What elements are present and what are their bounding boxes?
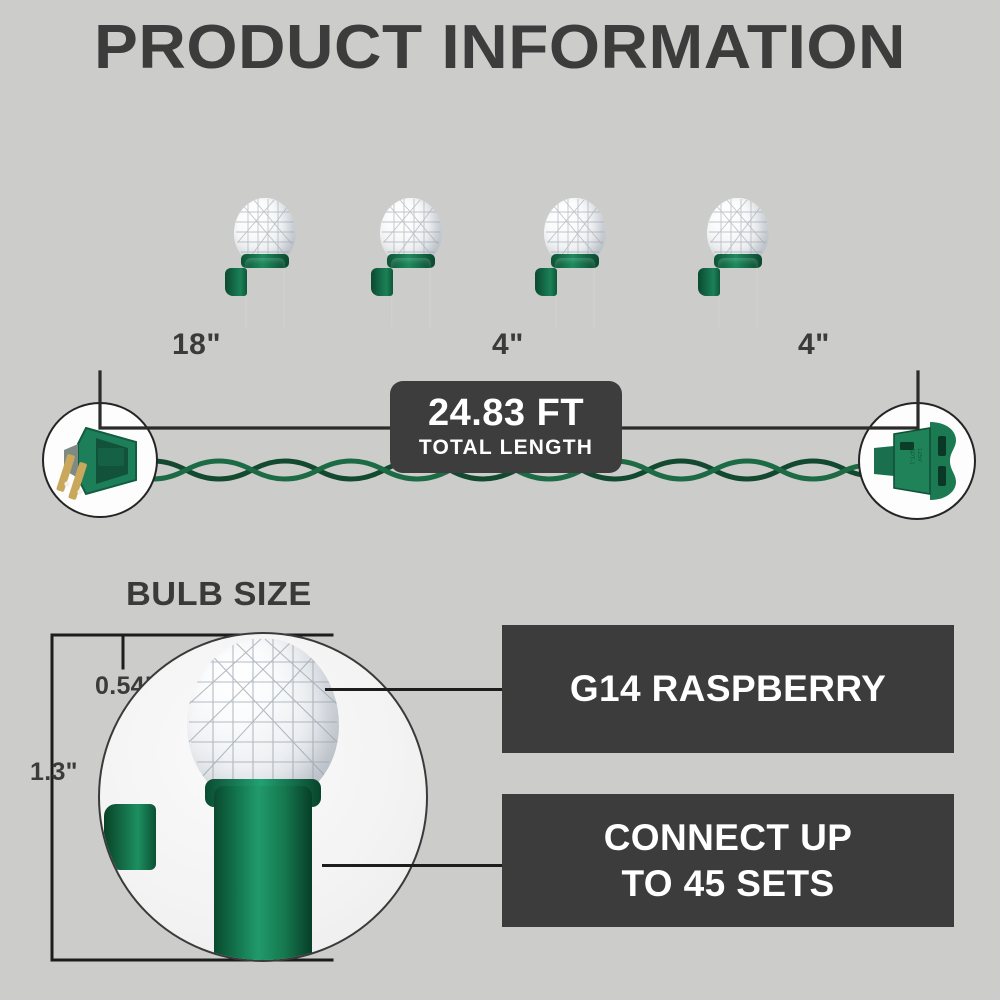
bulb-type-callout: G14 RASPBERRY — [502, 625, 954, 753]
bulb-socket-base — [555, 258, 595, 330]
connectable-sets-callout-label: CONNECT UP TO 45 SETS — [604, 815, 853, 905]
leader-line-bulb-type — [325, 688, 505, 691]
total-length-caption: TOTAL LENGTH — [419, 436, 593, 460]
connectable-sets-line-1: CONNECT UP — [604, 817, 853, 858]
female-socket-inset: 125V SPT-1 — [858, 402, 976, 520]
bulb-socket-base — [718, 258, 758, 330]
total-length-badge: 24.83 FT TOTAL LENGTH — [390, 381, 622, 473]
label-lead-wire-length: 18" — [172, 328, 221, 362]
bulb-socket-base — [391, 258, 431, 330]
bulb-socket-clip — [535, 268, 557, 296]
svg-text:SPT-1: SPT-1 — [908, 448, 914, 465]
bulb-socket-clip — [225, 268, 247, 296]
label-bulb-spacing-mid: 4" — [492, 328, 524, 362]
infographic-canvas: PRODUCT INFORMATION — [0, 0, 1000, 1000]
svg-text:125V: 125V — [916, 448, 922, 462]
bulb-socket-base-large — [214, 786, 312, 962]
page-title: PRODUCT INFORMATION — [0, 12, 1000, 83]
bulb-socket-clip — [698, 268, 720, 296]
leader-line-connect-sets — [322, 864, 505, 867]
bulb-socket-base — [245, 258, 285, 330]
bulb-socket-clip — [371, 268, 393, 296]
male-plug-inset — [42, 402, 158, 518]
label-bulb-height: 1.3" — [30, 758, 78, 787]
bulb-detail-circle — [98, 632, 428, 962]
total-length-value: 24.83 FT — [428, 394, 584, 434]
connectable-sets-callout: CONNECT UP TO 45 SETS — [502, 794, 954, 927]
bulb-type-callout-label: G14 RASPBERRY — [570, 668, 886, 710]
label-bulb-spacing-end: 4" — [798, 328, 830, 362]
bulb-size-heading: BULB SIZE — [126, 575, 312, 613]
connectable-sets-line-2: TO 45 SETS — [621, 863, 834, 904]
bulb-socket-clip-large — [104, 804, 156, 870]
